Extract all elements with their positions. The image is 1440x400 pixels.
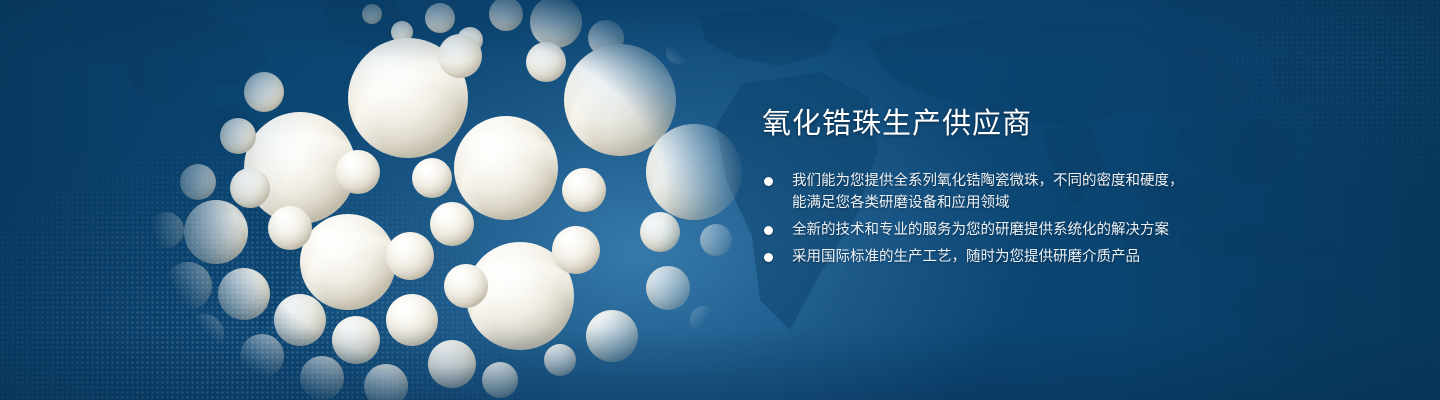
list-item: 采用国际标准的生产工艺，随时为您提供研磨介质产品: [762, 246, 1322, 268]
bullet-text-line: 能满足您各类研磨设备和应用领域: [792, 192, 1322, 214]
dot-bullet-icon: [764, 226, 773, 235]
bullet-text-line: 我们能为您提供全系列氧化锆陶瓷微珠，不同的密度和硬度，: [792, 170, 1322, 192]
hero-banner: 氧化锆珠生产供应商 我们能为您提供全系列氧化锆陶瓷微珠，不同的密度和硬度， 能满…: [0, 0, 1440, 400]
banner-copy: 氧化锆珠生产供应商 我们能为您提供全系列氧化锆陶瓷微珠，不同的密度和硬度， 能满…: [762, 104, 1322, 268]
feature-bullet-list: 我们能为您提供全系列氧化锆陶瓷微珠，不同的密度和硬度， 能满足您各类研磨设备和应…: [762, 170, 1322, 268]
list-item: 全新的技术和专业的服务为您的研磨提供系统化的解决方案: [762, 219, 1322, 241]
dot-bullet-icon: [764, 253, 773, 262]
banner-headline: 氧化锆珠生产供应商: [762, 104, 1322, 144]
bullet-text-line: 采用国际标准的生产工艺，随时为您提供研磨介质产品: [792, 246, 1322, 268]
list-item: 我们能为您提供全系列氧化锆陶瓷微珠，不同的密度和硬度， 能满足您各类研磨设备和应…: [762, 170, 1322, 214]
dot-bullet-icon: [764, 177, 773, 186]
bullet-text-line: 全新的技术和专业的服务为您的研磨提供系统化的解决方案: [792, 219, 1322, 241]
